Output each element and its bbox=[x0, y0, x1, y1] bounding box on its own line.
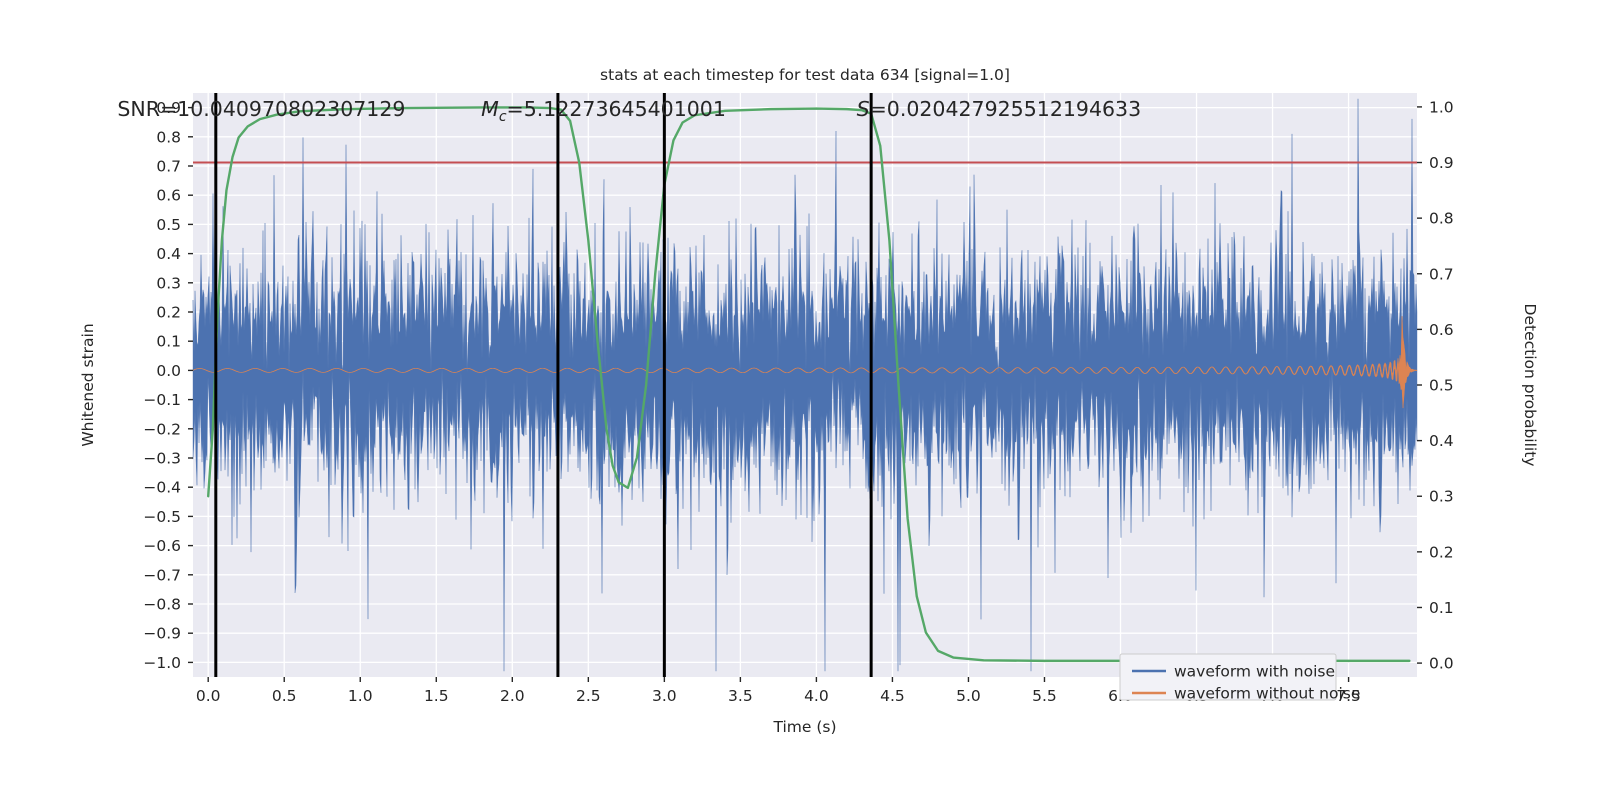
x-tick-label: 3.5 bbox=[728, 687, 753, 705]
annotation-snr: SNR=10.040970802307129 bbox=[117, 97, 405, 121]
gravitational-wave-plot: 0.00.51.01.52.02.53.03.54.04.55.05.56.06… bbox=[0, 0, 1600, 800]
annotation-significance: S=0.020427925512194633 bbox=[857, 97, 1142, 121]
y-tick-label-right: 0.2 bbox=[1429, 543, 1454, 561]
y-tick-label-left: 0.0 bbox=[156, 362, 181, 380]
y-tick-label-left: 0.4 bbox=[156, 245, 181, 263]
y-tick-label-right: 1.0 bbox=[1429, 98, 1454, 116]
y-tick-label-right: 0.6 bbox=[1429, 321, 1454, 339]
x-tick-label: 1.0 bbox=[348, 687, 373, 705]
y-tick-label-right: 0.3 bbox=[1429, 488, 1454, 506]
x-tick-label: 0.5 bbox=[272, 687, 297, 705]
x-tick-label: 1.5 bbox=[424, 687, 449, 705]
x-tick-label: 4.0 bbox=[804, 687, 829, 705]
plot-title: stats at each timestep for test data 634… bbox=[600, 66, 1010, 84]
y-tick-label-left: −0.4 bbox=[143, 479, 181, 497]
y-tick-label-left: −0.8 bbox=[143, 596, 181, 614]
y-tick-label-left: −0.1 bbox=[143, 391, 181, 409]
annotation-chirp-mass: Mc=5.12273645401001 bbox=[481, 97, 726, 125]
y-tick-label-left: 0.5 bbox=[156, 216, 181, 234]
y-tick-label-right: 0.8 bbox=[1429, 210, 1454, 228]
x-axis-label: Time (s) bbox=[772, 718, 836, 736]
y-tick-label-left: −0.7 bbox=[143, 566, 181, 584]
y-tick-label-left: 0.3 bbox=[156, 274, 181, 292]
y-tick-label-right: 0.9 bbox=[1429, 154, 1454, 172]
y-tick-label-left: −0.6 bbox=[143, 537, 181, 555]
x-tick-label: 0.0 bbox=[196, 687, 221, 705]
y-axis-label-right: Detection probability bbox=[1521, 304, 1539, 467]
figure-canvas: 0.00.51.01.52.02.53.03.54.04.55.05.56.06… bbox=[0, 0, 1600, 800]
x-tick-label: 5.5 bbox=[1032, 687, 1057, 705]
y-tick-label-right: 0.1 bbox=[1429, 599, 1454, 617]
y-tick-label-right: 0.0 bbox=[1429, 655, 1454, 673]
legend-label-1: waveform without noise bbox=[1174, 685, 1360, 703]
legend-label-0: waveform with noise bbox=[1174, 663, 1335, 681]
y-tick-label-left: −0.5 bbox=[143, 508, 181, 526]
y-tick-label-left: 0.6 bbox=[156, 187, 181, 205]
x-tick-label: 2.5 bbox=[576, 687, 601, 705]
y-tick-label-left: 0.2 bbox=[156, 304, 181, 322]
x-tick-label: 5.0 bbox=[956, 687, 981, 705]
x-tick-label: 2.0 bbox=[500, 687, 525, 705]
y-tick-label-right: 0.4 bbox=[1429, 432, 1454, 450]
y-tick-label-left: −0.9 bbox=[143, 625, 181, 643]
y-tick-label-right: 0.7 bbox=[1429, 265, 1454, 283]
y-axis-label-left: Whitened strain bbox=[79, 323, 97, 446]
y-tick-label-left: −1.0 bbox=[143, 654, 181, 672]
y-tick-label-left: 0.1 bbox=[156, 333, 181, 351]
y-tick-label-left: 0.8 bbox=[156, 128, 181, 146]
y-tick-label-right: 0.5 bbox=[1429, 377, 1454, 395]
x-tick-label: 3.0 bbox=[652, 687, 677, 705]
y-tick-label-left: 0.7 bbox=[156, 158, 181, 176]
y-tick-label-left: −0.3 bbox=[143, 450, 181, 468]
y-tick-label-left: −0.2 bbox=[143, 420, 181, 438]
x-tick-label: 4.5 bbox=[880, 687, 905, 705]
